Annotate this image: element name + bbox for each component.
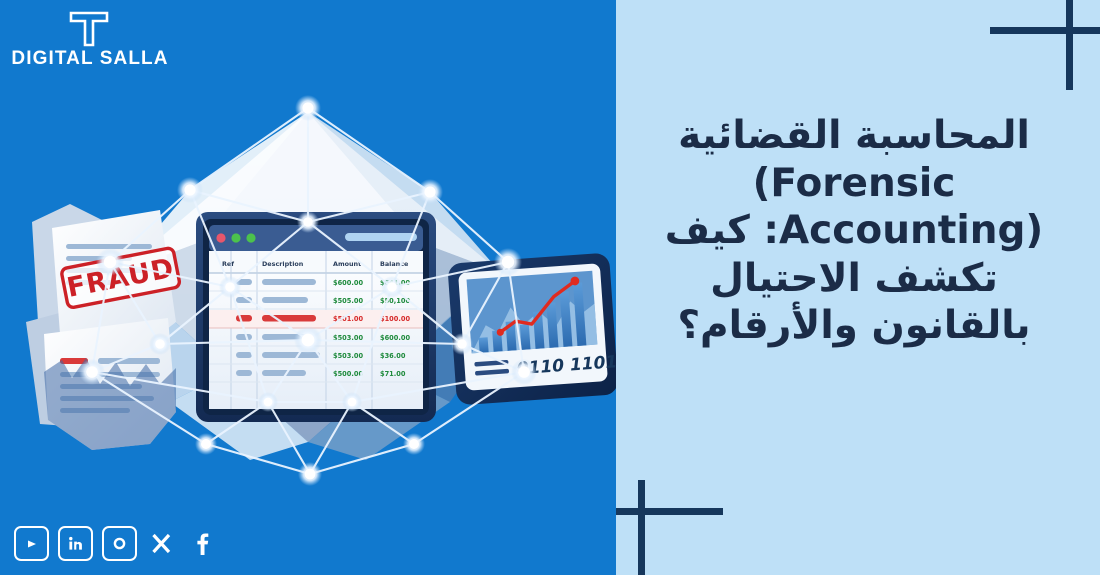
svg-text:$500.00: $500.00 <box>333 370 363 378</box>
left-brand-panel: DIGITAL SALLA <box>0 0 616 575</box>
headline-line-5: بالقانون والأرقام؟ <box>630 302 1078 350</box>
svg-text:$600.00: $600.00 <box>380 334 410 342</box>
svg-text:$505.00: $505.00 <box>333 297 363 305</box>
col-header-balance: Balance <box>380 260 409 268</box>
col-header-description: Description <box>262 260 304 268</box>
crosshair-horizontal-bar <box>616 508 723 515</box>
window-dot-close <box>216 233 225 242</box>
svg-text:$71.00: $71.00 <box>380 370 406 378</box>
headline-line-1: المحاسبة القضائية <box>630 112 1078 160</box>
right-headline-panel: المحاسبة القضائية Forensic) (Accounting:… <box>616 0 1100 575</box>
x-icon[interactable] <box>146 528 177 559</box>
crosshair-vertical-bar <box>1066 0 1073 90</box>
headline-line-3: (Accounting: كيف <box>630 207 1078 255</box>
page-title: المحاسبة القضائية Forensic) (Accounting:… <box>630 112 1078 350</box>
youtube-icon[interactable] <box>14 526 49 561</box>
headline-line-4: تكشف الاحتيال <box>630 255 1078 303</box>
window-dot-min <box>231 233 240 242</box>
brand-logo[interactable]: DIGITAL SALLA <box>10 8 170 78</box>
headline-line-2: Forensic) <box>630 160 1078 208</box>
window-dot-max <box>246 233 255 242</box>
analytics-tablet: 0110 1101 <box>447 253 616 406</box>
crosshair-top-right <box>990 0 1100 110</box>
forensic-accounting-illustration: Ref Description Amount Balance <box>0 72 616 492</box>
facebook-icon[interactable] <box>186 528 217 559</box>
crosshair-horizontal-bar <box>990 27 1100 34</box>
svg-text:$36.00: $36.00 <box>380 352 406 360</box>
svg-text:$100.00: $100.00 <box>380 315 410 323</box>
brand-name: DIGITAL SALLA <box>10 48 170 70</box>
linkedin-icon[interactable] <box>58 526 93 561</box>
promo-banner: DIGITAL SALLA <box>0 0 1100 575</box>
letter-t-outline-icon <box>68 10 110 48</box>
svg-text:$503.00: $503.00 <box>333 352 363 360</box>
instagram-icon[interactable] <box>102 526 137 561</box>
crosshair-bottom-left <box>616 470 731 575</box>
col-header-amount: Amount <box>333 260 361 268</box>
svg-text:$600.00: $600.00 <box>333 279 363 287</box>
transaction-monitor: Ref Description Amount Balance <box>196 212 436 422</box>
col-header-ref: Ref <box>222 260 234 268</box>
social-links[interactable] <box>14 526 217 561</box>
crosshair-vertical-bar <box>638 480 645 575</box>
